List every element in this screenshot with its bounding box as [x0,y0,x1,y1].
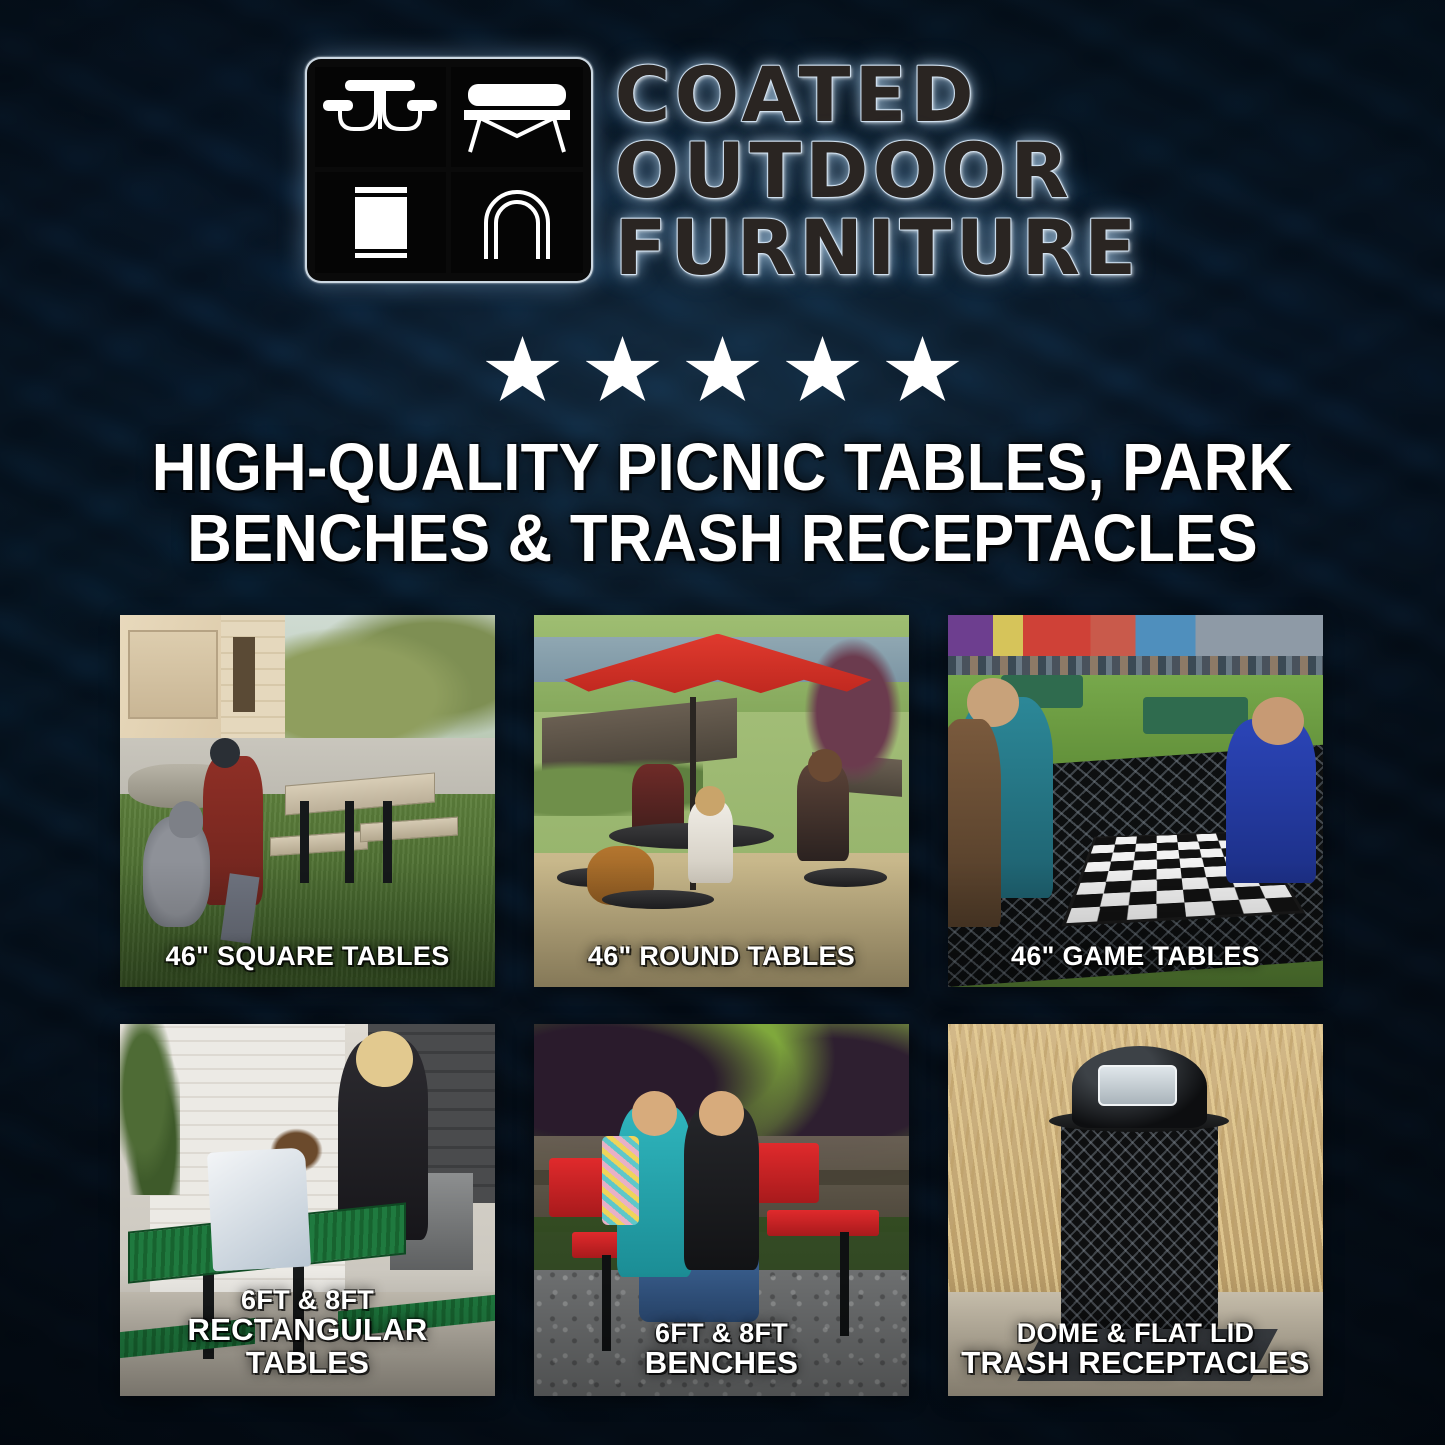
product-caption-line1: 46" SQUARE TABLES [166,941,450,971]
brand-name-line1: COATED [615,58,1141,132]
star-icon [686,336,760,406]
product-caption: 46" GAME TABLES [948,942,1323,987]
product-caption: 6FT & 8FT RECTANGULAR TABLES [120,1286,495,1396]
star-icon [486,336,560,406]
promo-graphic: COATED OUTDOOR FURNITURE HIGH-QUALITY PI… [0,0,1445,1445]
product-caption-line2: TRASH RECEPTACLES [956,1347,1315,1380]
star-rating [0,336,1445,406]
product-card-round-tables[interactable]: 46" ROUND TABLES [534,615,909,987]
brand-wordmark: COATED OUTDOOR FURNITURE [615,54,1141,285]
product-caption-line1: DOME & FLAT LID [1017,1318,1255,1348]
trash-receptacle-icon [315,172,447,273]
product-caption: DOME & FLAT LID TRASH RECEPTACLES [948,1319,1323,1396]
star-icon [786,336,860,406]
dome-lid-icon [451,172,583,273]
headline: HIGH-QUALITY PICNIC TABLES, PARK BENCHES… [58,432,1387,574]
product-caption: 46" ROUND TABLES [534,942,909,987]
headline-line1: HIGH-QUALITY PICNIC TABLES, PARK [58,432,1387,503]
brand-name-line3: FURNITURE [615,211,1141,285]
park-bench-icon [451,67,583,168]
product-card-trash-receptacles[interactable]: DOME & FLAT LID TRASH RECEPTACLES [948,1024,1323,1396]
round-picnic-table-icon [315,67,447,168]
logo-row: COATED OUTDOOR FURNITURE [305,54,1141,285]
product-card-benches[interactable]: 6FT & 8FT BENCHES [534,1024,909,1396]
product-caption-line1: 6FT & 8FT [241,1285,374,1315]
brand-header: COATED OUTDOOR FURNITURE [0,54,1445,285]
product-caption-line1: 6FT & 8FT [655,1318,788,1348]
brand-name-line2: OUTDOOR [615,134,1141,208]
star-icon [586,336,660,406]
product-caption: 46" SQUARE TABLES [120,942,495,987]
product-photo-square-tables [120,615,495,987]
product-card-square-tables[interactable]: 46" SQUARE TABLES [120,615,495,987]
product-photo-game-tables [948,615,1323,987]
product-grid: 46" SQUARE TABLES 46" ROUND TABLES [120,615,1325,1396]
headline-line2: BENCHES & TRASH RECEPTACLES [58,503,1387,574]
product-caption: 6FT & 8FT BENCHES [534,1319,909,1396]
product-caption-line1: 46" ROUND TABLES [588,941,855,971]
product-caption-line1: 46" GAME TABLES [1011,941,1260,971]
star-icon [886,336,960,406]
product-photo-round-tables [534,615,909,987]
product-card-game-tables[interactable]: 46" GAME TABLES [948,615,1323,987]
brand-logo-mark [305,57,593,283]
product-caption-line2: BENCHES [542,1347,901,1380]
product-card-rectangular-tables[interactable]: 6FT & 8FT RECTANGULAR TABLES [120,1024,495,1396]
product-caption-line2: RECTANGULAR TABLES [128,1314,487,1380]
